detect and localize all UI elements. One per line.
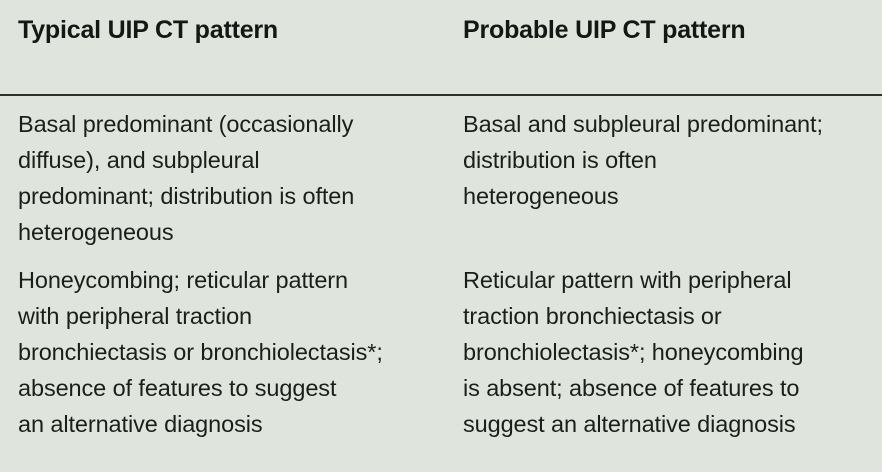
cell-text: Honeycombing; reticular patternwith peri… xyxy=(18,262,427,442)
cell-text-line: absence of features to suggest xyxy=(18,370,427,406)
table-row: Basal predominant (occasionallydiffuse),… xyxy=(0,96,882,250)
cell-text-line: Reticular pattern with peripheral xyxy=(463,262,868,298)
cell-text-line: distribution is often xyxy=(463,142,868,178)
cell-text-line: heterogeneous xyxy=(463,178,868,214)
column-header-label-typical: Typical UIP CT pattern xyxy=(18,15,425,45)
cell-text-line: diffuse), and subpleural xyxy=(18,142,427,178)
cell-text-line: Basal predominant (occasionally xyxy=(18,106,427,142)
cell-text-line: Basal and subpleural predominant; xyxy=(463,106,868,142)
cell-text-line: an alternative diagnosis xyxy=(18,406,427,442)
table-row: Honeycombing; reticular patternwith peri… xyxy=(0,250,882,442)
table-header-row: Typical UIP CT pattern Probable UIP CT p… xyxy=(0,0,882,96)
table-body: Basal predominant (occasionallydiffuse),… xyxy=(0,96,882,472)
cell-text: Reticular pattern with peripheraltractio… xyxy=(463,262,868,442)
cell-text-line: with peripheral traction xyxy=(18,298,427,334)
cell-text-line: is absent; absence of features to xyxy=(463,370,868,406)
cell-text-line: heterogeneous xyxy=(18,214,427,250)
cell-text-line: Honeycombing; reticular pattern xyxy=(18,262,427,298)
table-cell-distribution-probable: Basal and subpleural predominant;distrib… xyxy=(441,106,882,250)
column-header-label-probable: Probable UIP CT pattern xyxy=(463,15,866,45)
table-cell-distribution-typical: Basal predominant (occasionallydiffuse),… xyxy=(0,106,441,250)
table-cell-features-probable: Reticular pattern with peripheraltractio… xyxy=(441,262,882,442)
cell-text: Basal and subpleural predominant;distrib… xyxy=(463,106,868,214)
table-cell-features-typical: Honeycombing; reticular patternwith peri… xyxy=(0,262,441,442)
column-header-typical: Typical UIP CT pattern xyxy=(0,0,441,94)
cell-text-line: traction bronchiectasis or xyxy=(463,298,868,334)
cell-text-line: predominant; distribution is often xyxy=(18,178,427,214)
cell-text: Basal predominant (occasionallydiffuse),… xyxy=(18,106,427,250)
cell-text-line: bronchiolectasis*; honeycombing xyxy=(463,334,868,370)
uip-ct-pattern-table: Typical UIP CT pattern Probable UIP CT p… xyxy=(0,0,882,472)
cell-text-line: bronchiectasis or bronchiolectasis*; xyxy=(18,334,427,370)
cell-text-line: suggest an alternative diagnosis xyxy=(463,406,868,442)
column-header-probable: Probable UIP CT pattern xyxy=(441,0,882,94)
